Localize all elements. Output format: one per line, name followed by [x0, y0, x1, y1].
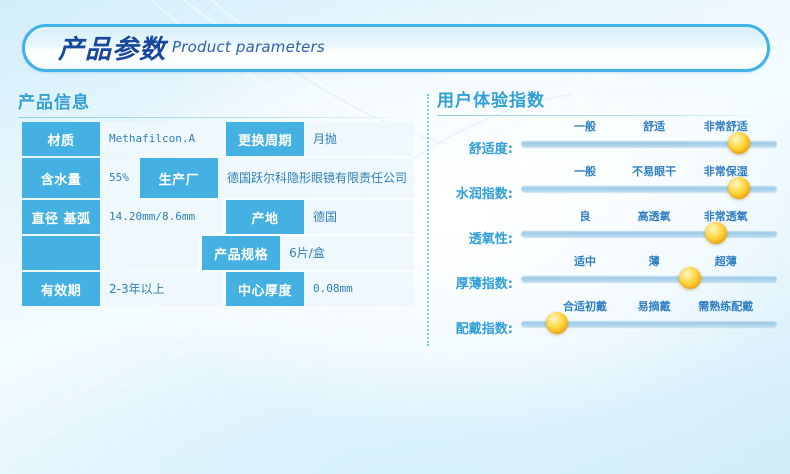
spec-value: 德国 [304, 200, 414, 234]
slider-track[interactable] [521, 275, 777, 282]
experience-slider[interactable]: 配戴指数:合适初戴易摘戴需熟练配戴 [437, 298, 777, 343]
spec-label: 生产厂 [140, 158, 218, 198]
section-title-left: 产品信息 [18, 88, 416, 113]
slider-tick-label: 合适初戴 [563, 298, 607, 314]
spec-label: 产地 [226, 200, 304, 234]
slider-label: 水润指数: [437, 183, 513, 202]
slider-tick-label: 易摘戴 [638, 298, 671, 314]
section-rule-right [437, 115, 777, 116]
slider-thumb[interactable] [546, 312, 568, 334]
spec-label: 含水量 [22, 158, 100, 198]
spec-label: 更换周期 [226, 122, 304, 156]
slider-thumb[interactable] [728, 177, 750, 199]
spec-value: 14.20mm/8.6mm [100, 200, 222, 234]
slider-tick-label: 不易眼干 [632, 163, 676, 179]
slider-thumb[interactable] [728, 132, 750, 154]
slider-track-area[interactable]: 适中薄超薄 [521, 253, 777, 298]
slider-track[interactable] [521, 230, 777, 237]
page-subtitle: Product parameters [172, 38, 325, 56]
slider-tick-label: 需熟练配戴 [698, 298, 753, 314]
experience-slider[interactable]: 透氧性:良高透氧非常透氧 [437, 208, 777, 253]
spec-value: 德国跃尔科隐形眼镜有限责任公司 [218, 158, 414, 198]
spec-label: 产品规格 [202, 236, 280, 270]
spec-value [100, 236, 198, 270]
spec-value: 月抛 [304, 122, 414, 156]
section-title-right: 用户体验指数 [437, 86, 777, 111]
slider-tick-label: 非常透氧 [704, 208, 748, 224]
product-spec-table: 材质Methafilcon.A更换周期月抛含水量55%生产厂德国跃尔科隐形眼镜有… [22, 122, 414, 308]
slider-label: 厚薄指数: [437, 273, 513, 292]
slider-tick-label: 舒适 [643, 118, 665, 134]
slider-track-area[interactable]: 合适初戴易摘戴需熟练配戴 [521, 298, 777, 343]
slider-tick-label: 良 [580, 208, 591, 224]
slider-tick-label: 一般 [574, 118, 596, 134]
table-row: 含水量55%生产厂德国跃尔科隐形眼镜有限责任公司 [22, 158, 414, 198]
slider-thumb[interactable] [679, 267, 701, 289]
spec-label: 中心厚度 [226, 272, 304, 306]
experience-slider-list: 舒适度:一般舒适非常舒适水润指数:一般不易眼干非常保湿透氧性:良高透氧非常透氧厚… [437, 118, 777, 343]
table-row: 产品规格6片/盒 [22, 236, 414, 270]
table-row: 直径 基弧14.20mm/8.6mm产地德国 [22, 200, 414, 234]
page-root: 产品参数 Product parameters 产品信息 用户体验指数 材质Me… [0, 0, 790, 474]
spec-value: 2-3年以上 [100, 272, 222, 306]
slider-track-area[interactable]: 一般舒适非常舒适 [521, 118, 777, 163]
spec-label [22, 236, 100, 270]
page-title: 产品参数 [58, 29, 166, 66]
slider-tick-labels: 良高透氧非常透氧 [521, 208, 777, 226]
spec-value: Methafilcon.A [100, 122, 222, 156]
slider-label: 配戴指数: [437, 318, 513, 337]
experience-slider[interactable]: 舒适度:一般舒适非常舒适 [437, 118, 777, 163]
spec-label: 直径 基弧 [22, 200, 100, 234]
spec-label: 材质 [22, 122, 100, 156]
experience-slider[interactable]: 水润指数:一般不易眼干非常保湿 [437, 163, 777, 208]
slider-label: 舒适度: [437, 138, 513, 157]
slider-tick-label: 适中 [574, 253, 596, 269]
panel-divider [427, 94, 429, 346]
spec-value: 55% [100, 158, 136, 198]
slider-label: 透氧性: [437, 228, 513, 247]
slider-tick-label: 薄 [649, 253, 660, 269]
slider-tick-label: 超薄 [715, 253, 737, 269]
experience-slider[interactable]: 厚薄指数:适中薄超薄 [437, 253, 777, 298]
spec-label: 有效期 [22, 272, 100, 306]
table-row: 材质Methafilcon.A更换周期月抛 [22, 122, 414, 156]
slider-thumb[interactable] [705, 222, 727, 244]
section-rule-left [18, 117, 416, 118]
section-product-info-heading: 产品信息 [18, 88, 416, 118]
slider-tick-labels: 适中薄超薄 [521, 253, 777, 271]
slider-track-area[interactable]: 一般不易眼干非常保湿 [521, 163, 777, 208]
spec-value: 0.08mm [304, 272, 414, 306]
spec-value: 6片/盒 [280, 236, 414, 270]
slider-tick-label: 高透氧 [638, 208, 671, 224]
table-row: 有效期2-3年以上中心厚度0.08mm [22, 272, 414, 306]
slider-track-area[interactable]: 良高透氧非常透氧 [521, 208, 777, 253]
slider-tick-label: 一般 [574, 163, 596, 179]
section-experience-heading: 用户体验指数 [437, 86, 777, 116]
